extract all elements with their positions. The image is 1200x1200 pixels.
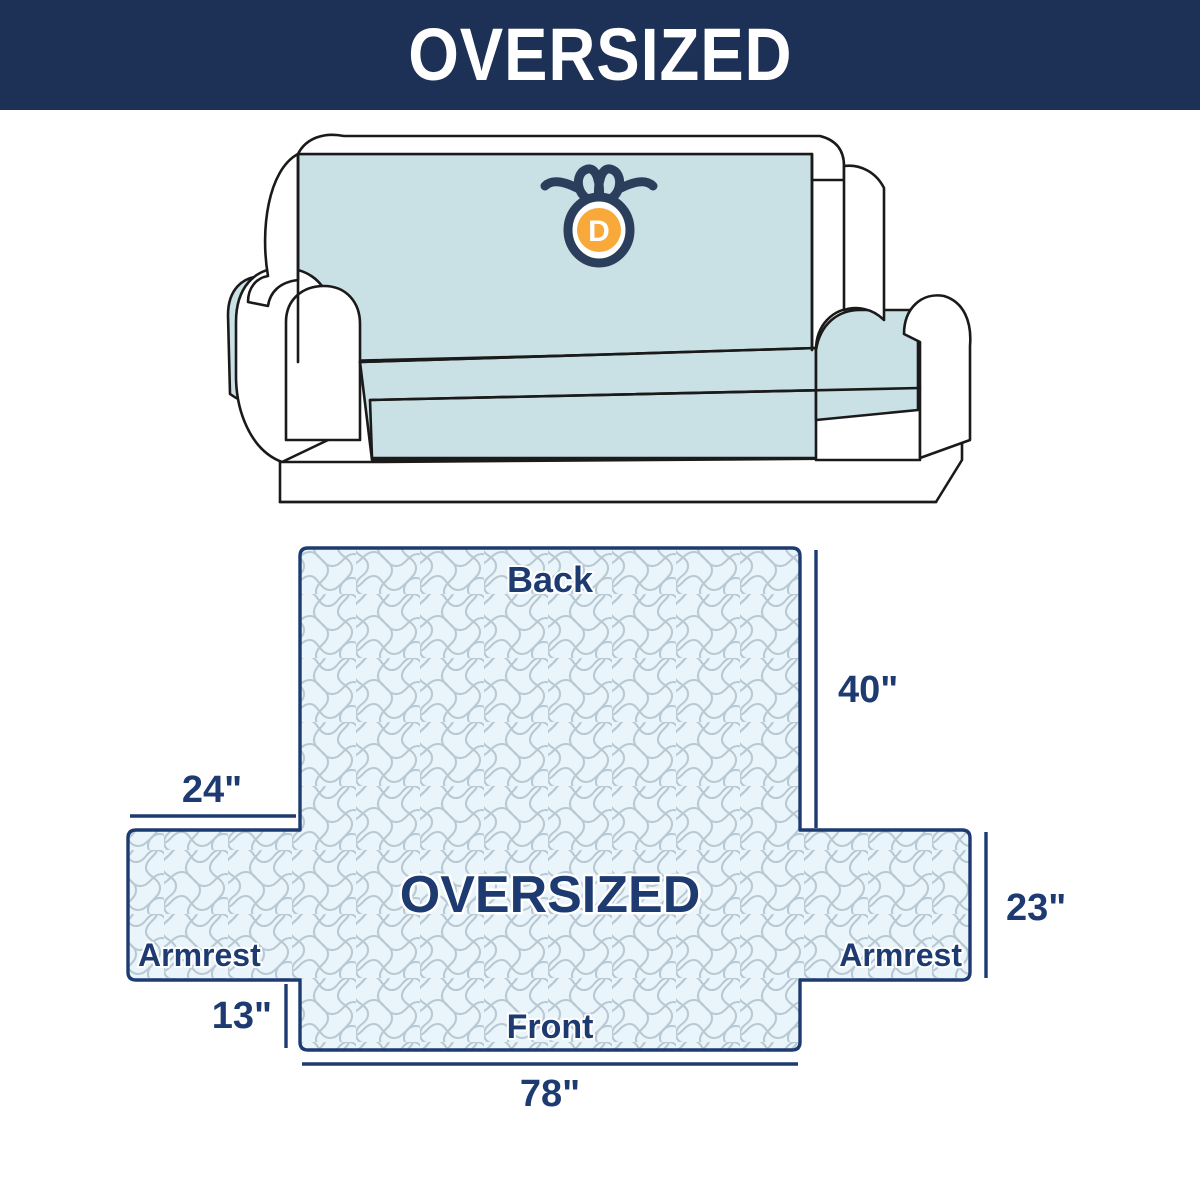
dimension-value-78: 78" [520,1073,580,1115]
dimension-value-40: 40" [838,669,898,711]
logo-letter: D [588,215,610,248]
sofa-drawing: D [220,110,980,510]
label-center-size: OVERSIZED [400,866,701,924]
dimension-total-width: 78" [302,1064,798,1115]
dimension-value-24: 24" [182,769,242,811]
flat-layout-diagram: Back OVERSIZED Armrest Armrest Front 40"… [0,530,1200,1200]
sofa-illustration: D [0,110,1200,530]
cover-right-arm-flap [816,310,918,420]
label-front: Front [507,1008,594,1046]
dimension-value-13: 13" [212,995,272,1037]
dimension-armrest-width: 24" [130,769,296,816]
label-armrest-right: Armrest [839,937,962,973]
label-back: Back [507,559,594,600]
dimension-front-height: 13" [212,984,286,1048]
sofa-right-arm-cap [844,166,884,320]
label-armrest-left: Armrest [138,937,261,973]
page-title: OVERSIZED [408,18,792,92]
layout-drawing: Back OVERSIZED Armrest Armrest Front 40"… [100,530,1100,1130]
dimension-value-23: 23" [1006,887,1066,929]
dimension-armrest-height: 23" [986,832,1066,978]
dimension-back-height: 40" [808,550,898,828]
cover-flat-outline [128,548,970,1050]
header-banner: OVERSIZED [0,0,1200,110]
